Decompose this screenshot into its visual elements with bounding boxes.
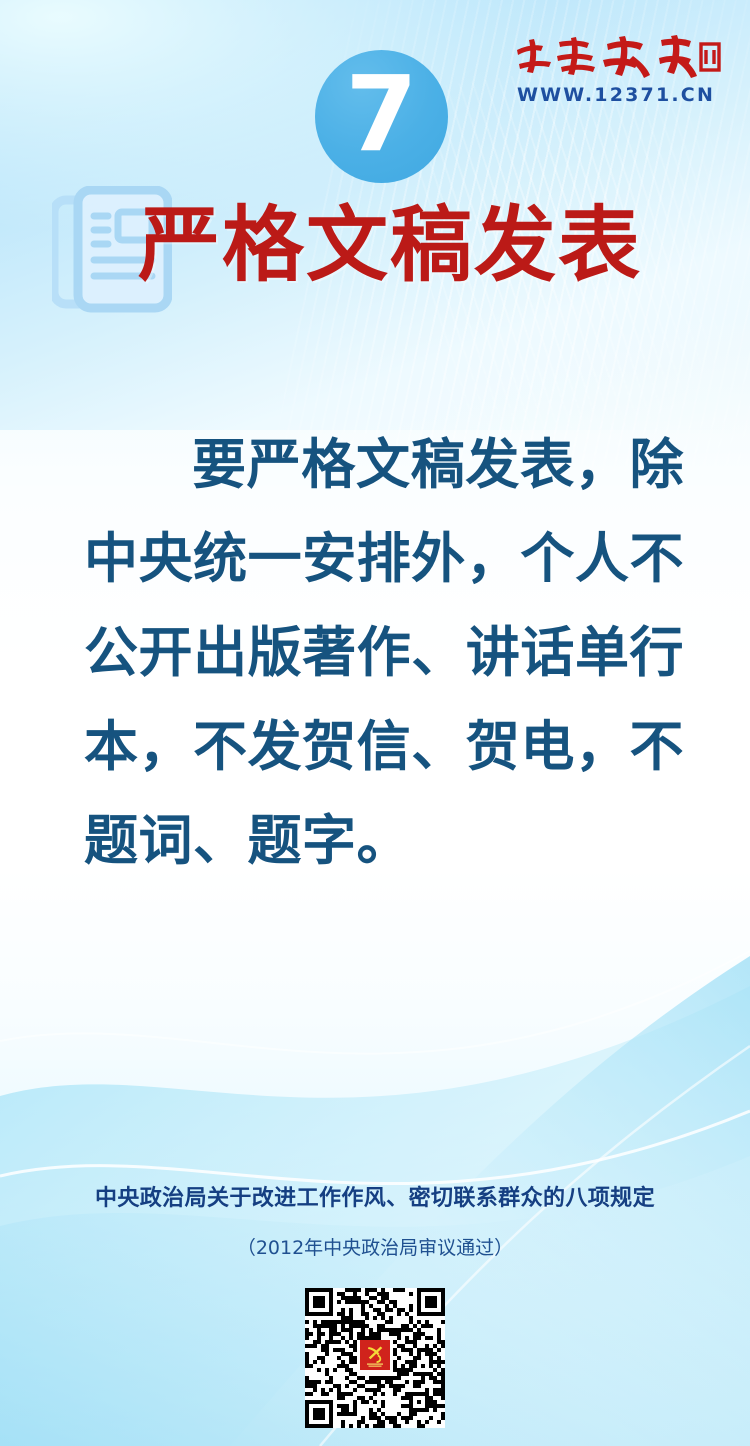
section-number-badge: 7 — [315, 50, 448, 183]
body-text: 要严格文稿发表，除中央统一安排外，个人不公开出版著作、讲话单行本，不发贺信、贺电… — [84, 418, 684, 888]
footer-regulation-subtitle: （2012年中央政治局审议通过） — [0, 1233, 750, 1260]
section-number-value: 7 — [315, 50, 448, 183]
page-title: 严格文稿发表 — [138, 200, 642, 292]
party-emblem-icon — [360, 1340, 390, 1370]
footer-regulation-title: 中央政治局关于改进工作作风、密切联系群众的八项规定 — [0, 1180, 750, 1212]
poster-canvas: WWW.12371.CN 7 严格文稿发表 要严格文稿发表，除中央统一安排外，个… — [0, 0, 750, 1446]
site-logo: WWW.12371.CN — [506, 34, 726, 106]
logo-url-text: WWW.12371.CN — [506, 84, 726, 106]
qr-code[interactable] — [305, 1288, 445, 1428]
brand-calligraphy-icon — [511, 34, 721, 80]
